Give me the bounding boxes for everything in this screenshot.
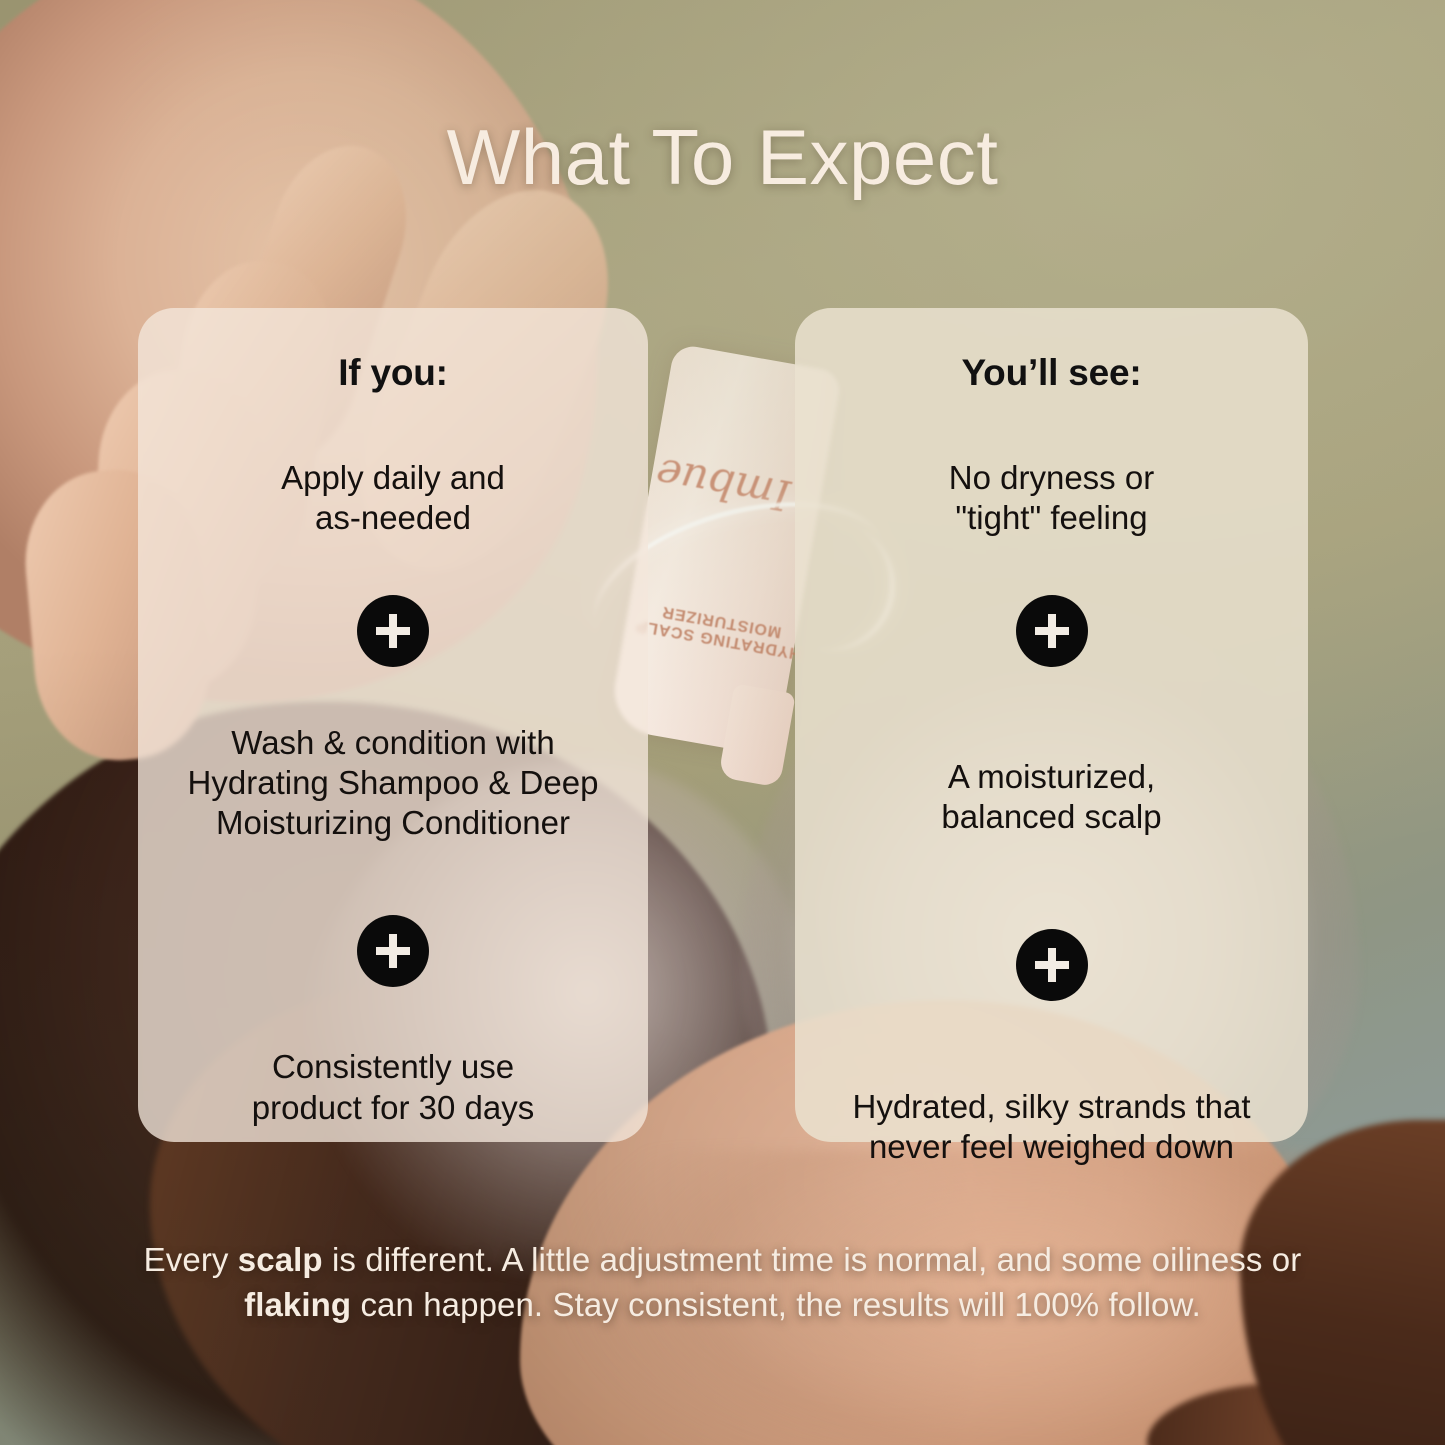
plus-connector (1016, 595, 1088, 667)
footnote-line1-b: is different. A little adjustment time i… (323, 1241, 1143, 1278)
promo-graphic: Imbue HYDRATING SCALP MOISTURIZER What T… (0, 0, 1445, 1445)
step-text: A moisturized, balanced scalp (941, 757, 1161, 838)
footnote-line2-a: oiliness or (1152, 1241, 1302, 1278)
footnote-bold-scalp: scalp (238, 1241, 323, 1278)
plus-icon (1016, 595, 1088, 667)
step-text: Wash & condition with Hydrating Shampoo … (188, 723, 599, 844)
card-youll-see-body: No dryness or "tight" feeling A moisturi… (825, 394, 1278, 1168)
plus-icon (357, 595, 429, 667)
plus-connector (1016, 929, 1088, 1001)
card-if-you: If you: Apply daily and as-needed Wash &… (138, 308, 648, 1142)
card-if-you-title: If you: (338, 352, 448, 394)
step-text: Consistently use product for 30 days (252, 1047, 535, 1128)
step-text: Apply daily and as-needed (281, 458, 505, 539)
step-text: No dryness or "tight" feeling (949, 458, 1154, 539)
plus-connector (357, 595, 429, 667)
plus-icon (357, 915, 429, 987)
plus-icon (1016, 929, 1088, 1001)
card-youll-see: You’ll see: No dryness or "tight" feelin… (795, 308, 1308, 1142)
footnote-bold-flaking: flaking (244, 1286, 351, 1323)
footnote-disclaimer: Every scalp is different. A little adjus… (120, 1238, 1325, 1327)
footnote-line1-a: Every (144, 1241, 238, 1278)
step-text: Hydrated, silky strands that never feel … (853, 1087, 1251, 1168)
plus-connector (357, 915, 429, 987)
page-title: What To Expect (0, 112, 1445, 203)
card-youll-see-title: You’ll see: (961, 352, 1141, 394)
card-if-you-body: Apply daily and as-needed Wash & conditi… (168, 394, 618, 1128)
footnote-line2-b: can happen. Stay consistent, the results… (351, 1286, 1201, 1323)
